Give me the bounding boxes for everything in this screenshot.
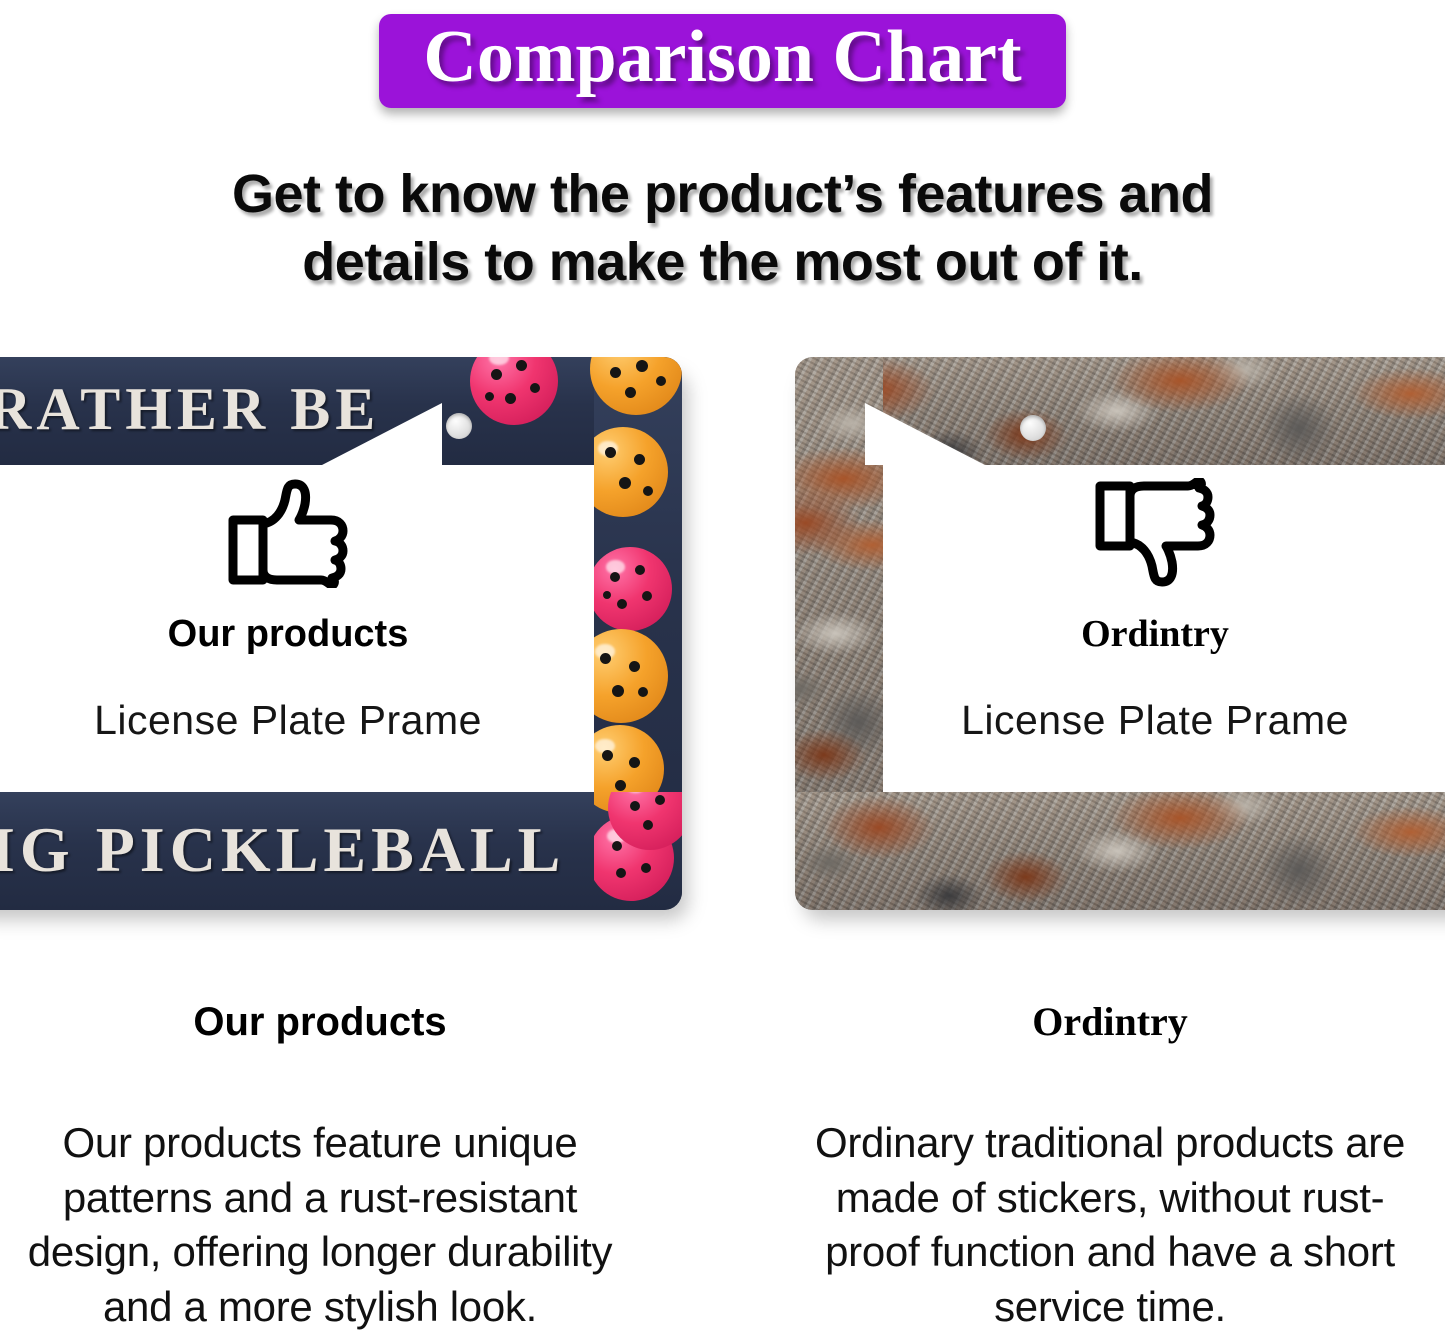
- frame-rail-bottom-left: IG PICKLEBALL: [0, 792, 682, 910]
- our-product-bottom-title: Our products: [0, 1000, 640, 1044]
- ordinary-product-description-column: Ordintry Ordinary traditional products a…: [790, 1000, 1430, 1334]
- ordinary-product-center-block: Ordintry License Plate Prame: [875, 478, 1435, 743]
- frame-rail-top-left: RATHER BE: [0, 357, 682, 465]
- our-product-subtitle: License Plate Prame: [8, 698, 568, 743]
- pickleball-orange: [594, 629, 668, 723]
- our-product-bottom-description: Our products feature unique patterns and…: [0, 1116, 640, 1334]
- thumbs-down-icon: [1094, 478, 1216, 588]
- our-product-name: Our products: [8, 614, 568, 656]
- ordinary-product-name: Ordintry: [875, 614, 1435, 656]
- frame-rail-bottom-right: [795, 792, 1445, 910]
- title-banner: Comparison Chart: [379, 14, 1065, 108]
- pickleball-pink: [594, 547, 672, 631]
- title-banner-wrapper: Comparison Chart: [0, 14, 1445, 108]
- plate-text-top: RATHER BE: [0, 379, 682, 439]
- mounting-hole: [446, 413, 472, 439]
- ordinary-product-bottom-description: Ordinary traditional products are made o…: [790, 1116, 1430, 1334]
- thumbs-up-icon: [227, 478, 349, 588]
- our-product-center-block: Our products License Plate Prame: [8, 478, 568, 743]
- pickleball-orange: [594, 427, 668, 517]
- subtitle-line-1: Get to know the product’s features and: [0, 160, 1445, 228]
- page-title: Comparison Chart: [423, 20, 1021, 94]
- our-product-description-column: Our products Our products feature unique…: [0, 1000, 640, 1334]
- mounting-hole: [1020, 415, 1046, 441]
- ordinary-product-subtitle: License Plate Prame: [875, 698, 1435, 743]
- page-subtitle: Get to know the product’s features and d…: [0, 160, 1445, 296]
- plate-text-bottom: IG PICKLEBALL: [0, 818, 682, 882]
- subtitle-line-2: details to make the most out of it.: [0, 228, 1445, 296]
- ordinary-product-bottom-title: Ordintry: [790, 1000, 1430, 1044]
